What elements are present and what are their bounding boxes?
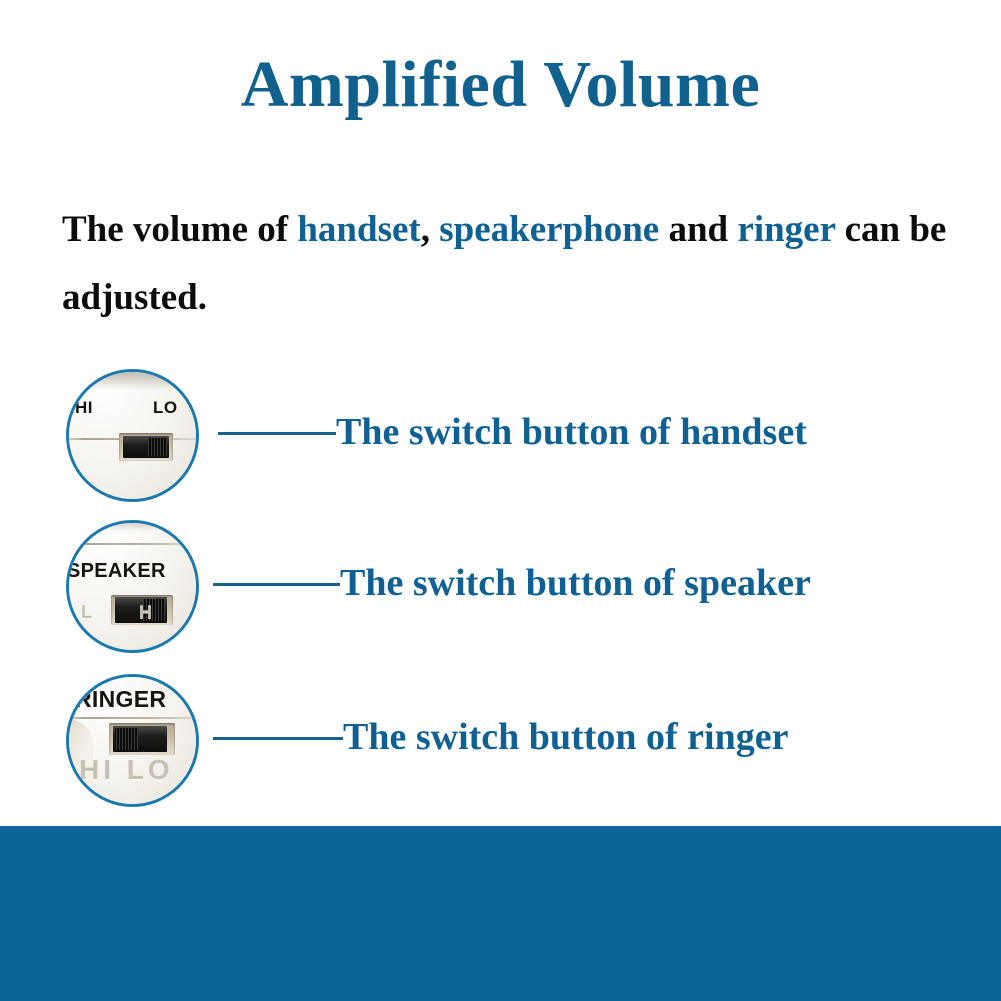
photo-top-shadow	[66, 369, 199, 390]
callout-row-speaker: SPEAKER L H The switch button of speaker	[0, 518, 1001, 658]
handset-volume-switch-photo: HI LO	[66, 369, 199, 502]
callout-label-handset: The switch button of handset	[336, 407, 807, 457]
page-title: Amplified Volume	[0, 52, 1001, 118]
footer-bar	[0, 826, 1001, 1001]
switch-label-ringer: RINGER	[75, 686, 166, 713]
intro-highlight-speakerphone: speakerphone	[439, 209, 659, 250]
handset-volume-toggle-switch[interactable]	[123, 436, 169, 458]
callout-row-handset: HI LO The switch button of handset	[0, 367, 1001, 507]
callout-label-speaker: The switch button of speaker	[340, 558, 811, 608]
phone-seam-line	[66, 717, 199, 719]
phone-seam-line	[66, 543, 199, 545]
photo-top-shadow	[66, 674, 199, 675]
intro-text-1: The volume of	[62, 209, 297, 250]
infographic-page: Amplified Volume The volume of handset, …	[0, 0, 1001, 1001]
switch-label-hi-lo: HI LO	[79, 754, 174, 786]
ringer-volume-switch-photo: RINGER HI LO	[66, 674, 199, 807]
leader-line-ringer	[213, 737, 343, 740]
switch-recess	[109, 723, 175, 755]
ringer-volume-toggle-switch[interactable]	[113, 726, 167, 752]
intro-highlight-handset: handset	[297, 209, 420, 250]
leader-line-speaker	[213, 583, 340, 586]
switch-label-low: L	[81, 602, 92, 623]
switch-label-high: H	[139, 602, 152, 623]
callout-label-ringer: The switch button of ringer	[343, 712, 788, 762]
intro-text-2: ,	[421, 209, 440, 250]
callout-row-ringer: RINGER HI LO The switch button of ringer	[0, 672, 1001, 812]
intro-paragraph: The volume of handset, speakerphone and …	[62, 196, 952, 332]
leader-line-handset	[218, 432, 336, 435]
phone-surface: RINGER HI LO	[66, 674, 199, 807]
switch-label-lo: LO	[153, 398, 178, 418]
photo-top-shadow	[66, 520, 199, 531]
switch-label-hi: HI	[75, 398, 93, 418]
switch-label-speaker: SPEAKER	[67, 560, 166, 583]
phone-surface: SPEAKER L H	[66, 520, 199, 653]
speaker-volume-switch-photo: SPEAKER L H	[66, 520, 199, 653]
switch-recess	[119, 433, 173, 461]
intro-highlight-ringer: ringer	[737, 209, 835, 250]
intro-text-3: and	[659, 209, 737, 250]
phone-surface: HI LO	[66, 369, 199, 502]
